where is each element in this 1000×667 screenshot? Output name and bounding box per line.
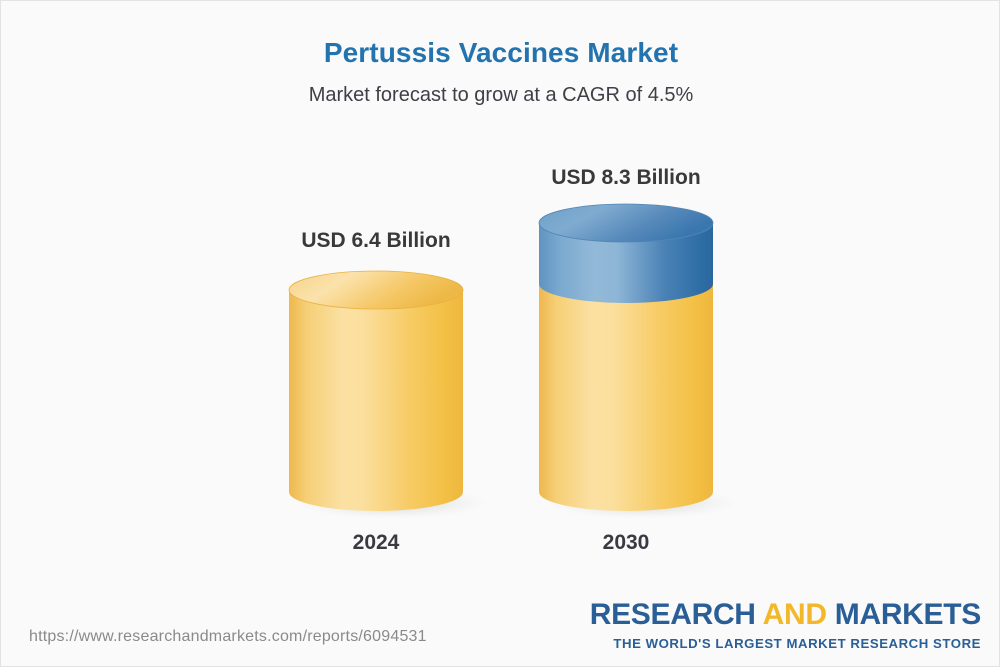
bar-value-label-2024: USD 6.4 Billion: [261, 229, 491, 253]
brand-logo-word-and: AND: [763, 598, 827, 631]
bar-value-label-2030: USD 8.3 Billion: [511, 166, 741, 190]
source-url-link[interactable]: https://www.researchandmarkets.com/repor…: [29, 628, 427, 646]
bar-top-ellipse-2024: [289, 271, 463, 309]
brand-logo[interactable]: RESEARCH AND MARKETS THE WORLD'S LARGEST…: [590, 600, 981, 650]
bar-body-2024: [289, 290, 463, 511]
cylinder-shape-2030: [539, 204, 713, 511]
bar-category-label-2030: 2030: [511, 531, 741, 555]
cylinder-shape-2024: [289, 271, 463, 511]
infographic-canvas: Pertussis Vaccines Market Market forecas…: [0, 0, 1000, 667]
brand-logo-word-research: RESEARCH: [590, 598, 756, 631]
footer: https://www.researchandmarkets.com/repor…: [1, 594, 1000, 666]
brand-logo-wordmark: RESEARCH AND MARKETS: [590, 600, 981, 630]
brand-logo-tagline: THE WORLD'S LARGEST MARKET RESEARCH STOR…: [590, 630, 981, 650]
bar-category-label-2024: 2024: [261, 531, 491, 555]
bar-top-ellipse-2030: [539, 204, 713, 242]
chart-plot-area: USD 6.4 Billion: [1, 1, 1000, 601]
bar-cylinder-2030: [539, 204, 713, 511]
brand-logo-word-markets: MARKETS: [835, 598, 981, 631]
bar-body-base-2030: [539, 284, 713, 511]
bar-cylinder-2024: [289, 271, 463, 511]
